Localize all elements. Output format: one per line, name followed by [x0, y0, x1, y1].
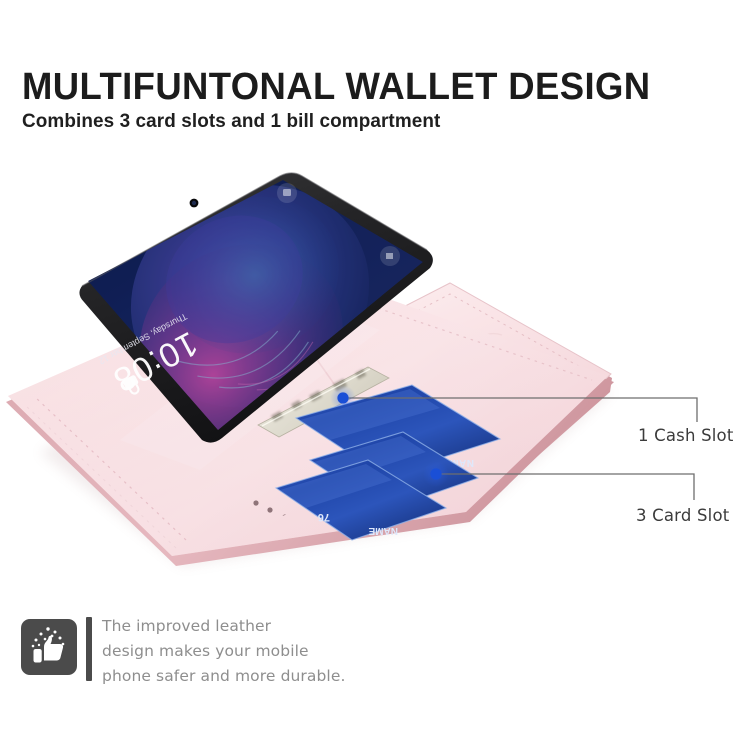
svg-text:76: 76	[318, 511, 330, 523]
callout-label-card-slot: 3 Card Slot	[636, 506, 729, 525]
caption-line-2: design makes your mobile	[102, 639, 346, 664]
thumbs-up-icon	[21, 619, 77, 675]
caption-line-3: phone safer and more durable.	[102, 664, 346, 689]
page-title: MULTIFUNTONAL WALLET DESIGN	[22, 68, 650, 106]
page-subtitle: Combines 3 card slots and 1 bill compart…	[22, 112, 440, 132]
product-infographic: 76 NAME 76 NAME 76 NAME	[0, 0, 750, 750]
marker-dot-cash	[337, 392, 348, 403]
caption-text: The improved leather design makes your m…	[102, 614, 346, 689]
caption-divider-bar	[86, 617, 92, 681]
caption-line-1: The improved leather	[102, 614, 346, 639]
marker-dot-card	[430, 468, 441, 479]
svg-text:NAME: NAME	[368, 525, 398, 536]
callout-label-cash-slot: 1 Cash Slot	[638, 426, 734, 445]
